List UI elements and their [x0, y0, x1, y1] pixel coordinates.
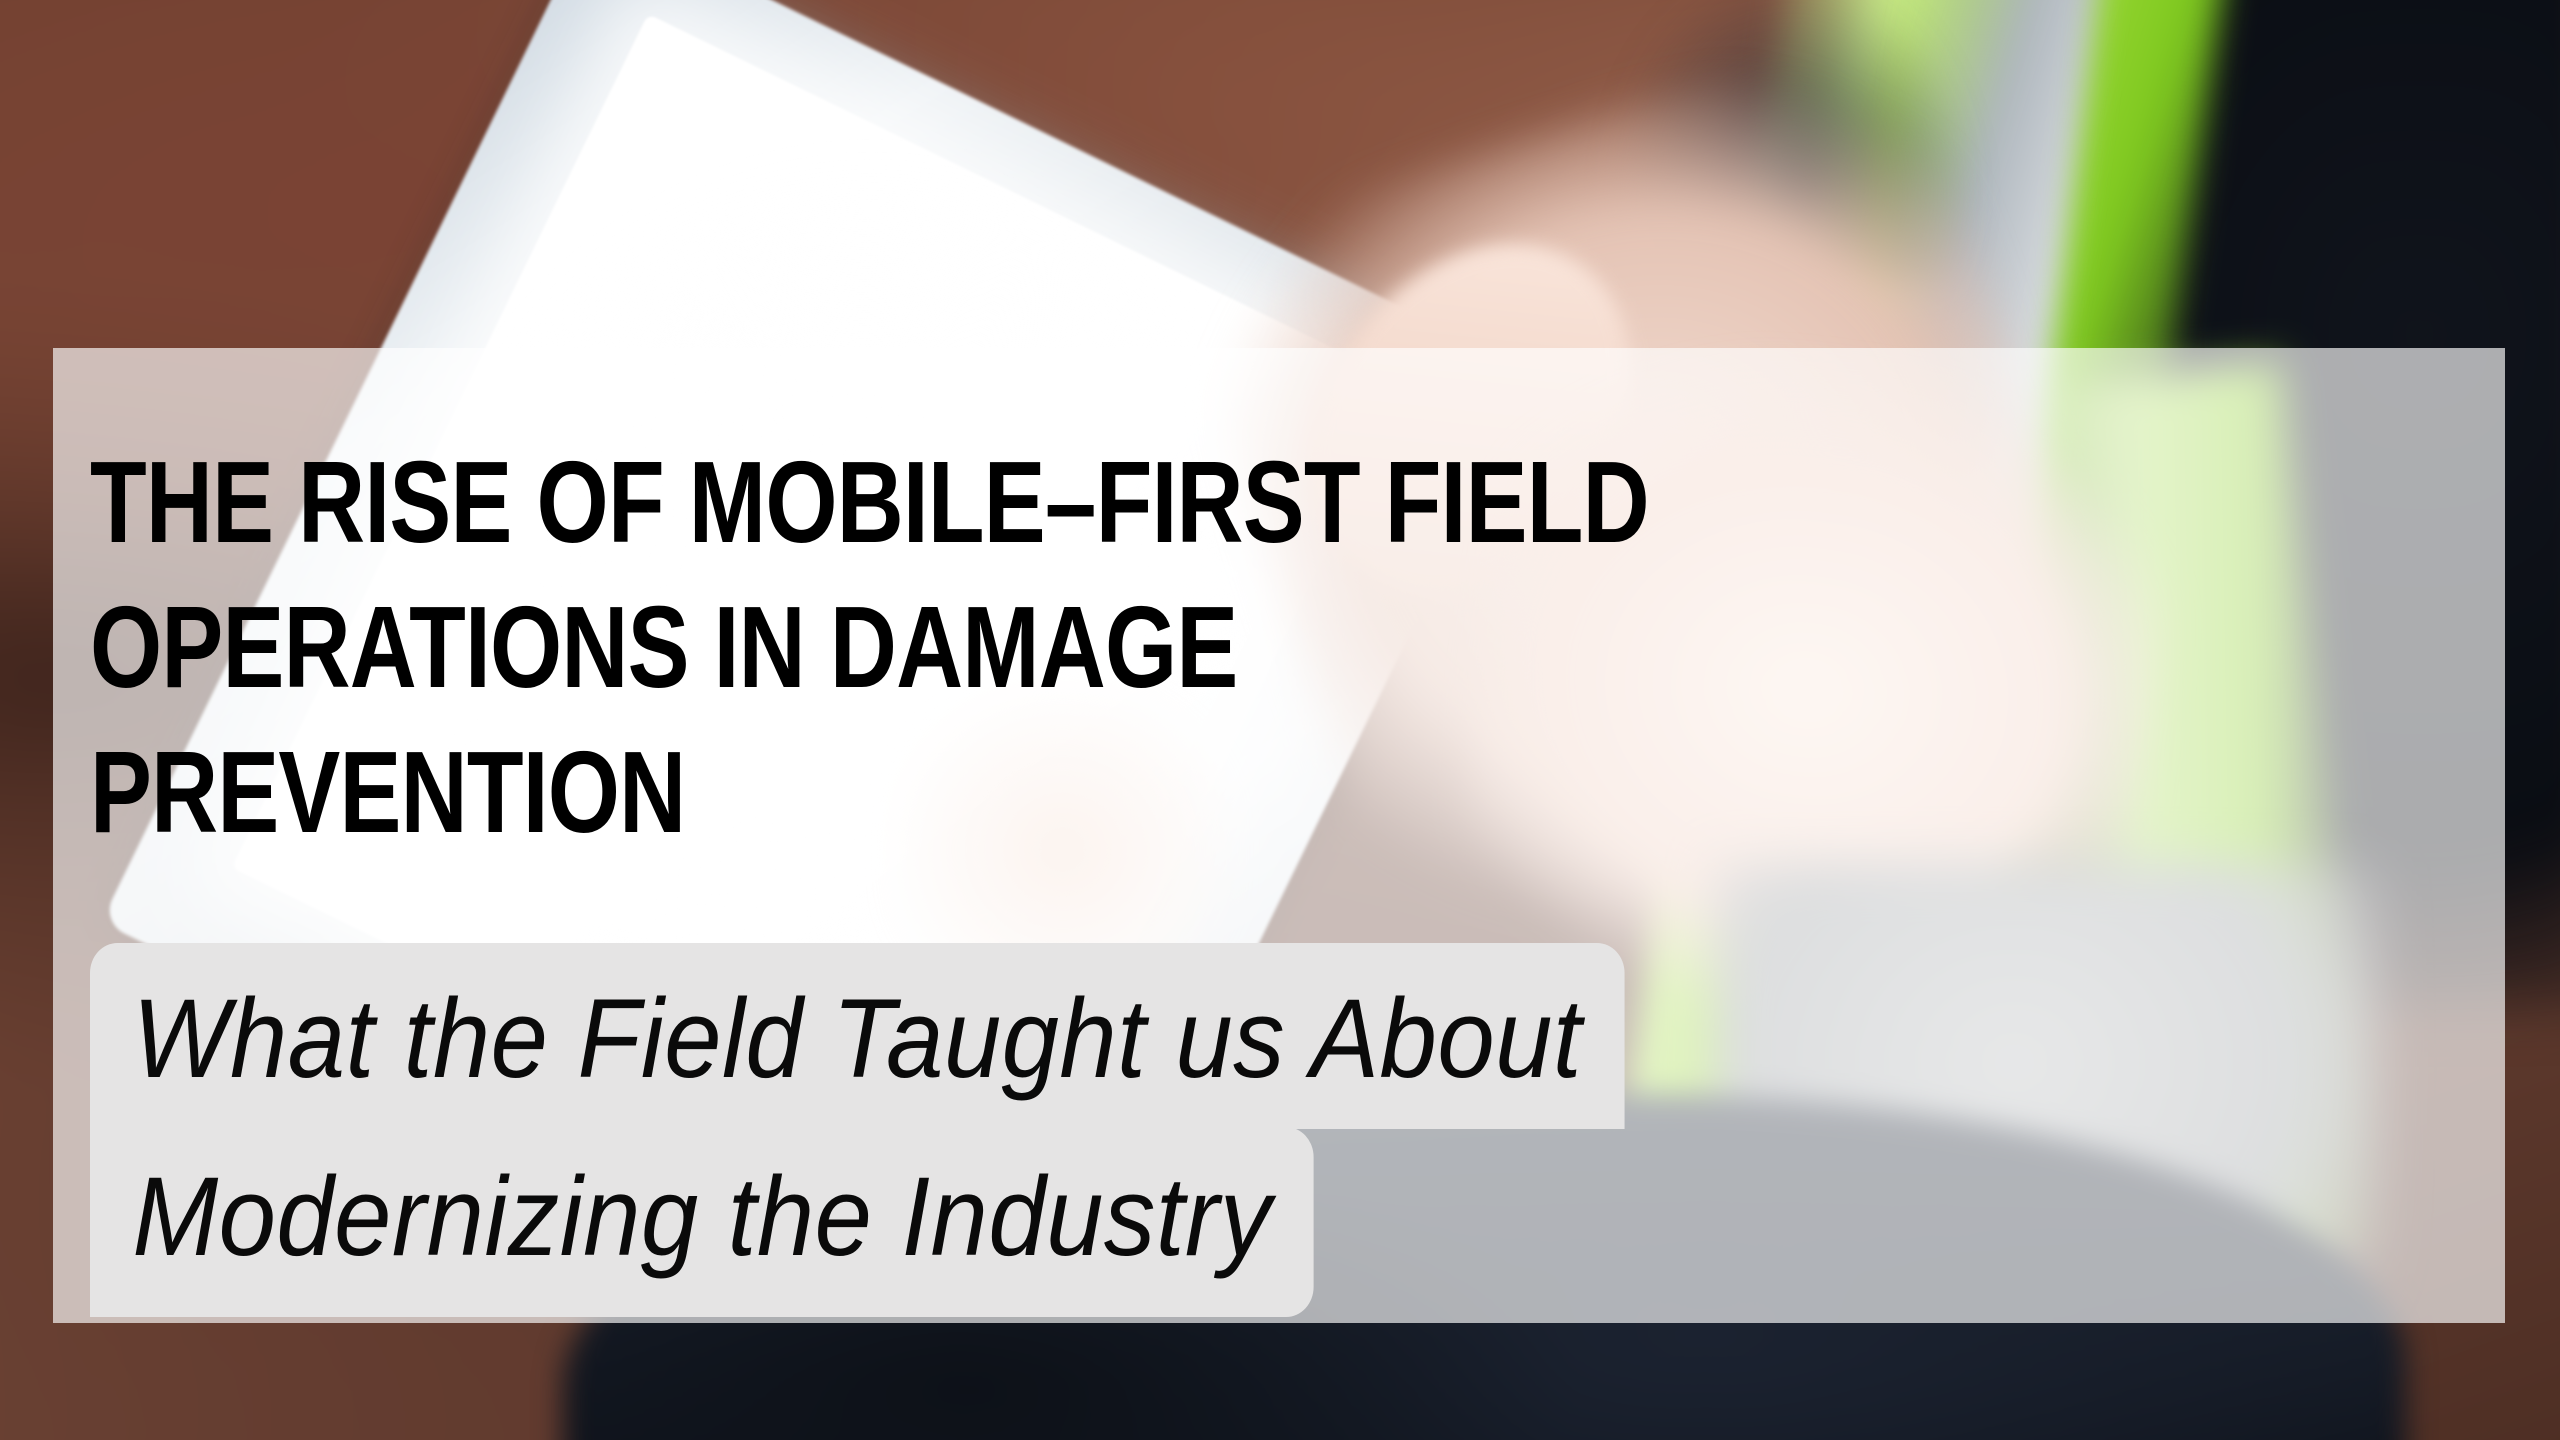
- subtitle-line-1: What the Field Taught us About: [90, 943, 1624, 1129]
- page-title: THE RISE OF MOBILE–FIRST FIELD OPERATION…: [90, 430, 1658, 865]
- subtitle-block: What the Field Taught us About Modernizi…: [90, 943, 2390, 1317]
- hero-banner: THE RISE OF MOBILE–FIRST FIELD OPERATION…: [0, 0, 2560, 1440]
- subtitle-line-2: Modernizing the Industry: [90, 1127, 1314, 1317]
